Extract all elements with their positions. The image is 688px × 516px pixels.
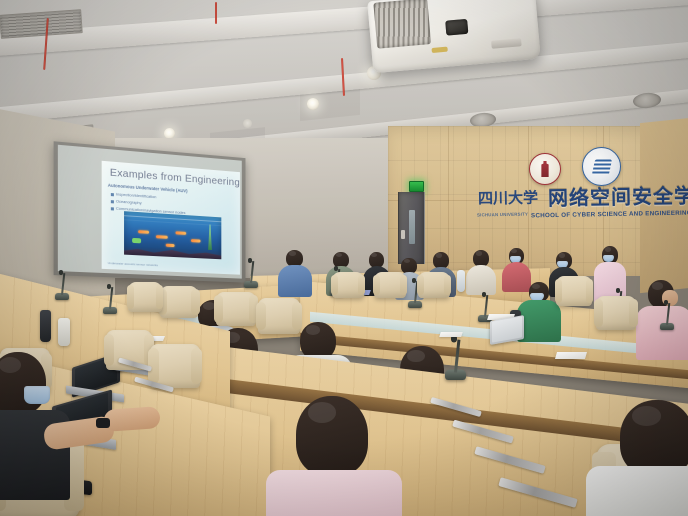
conference-chair[interactable] [418, 272, 450, 298]
typing-hand [103, 406, 160, 432]
projector-label [431, 47, 447, 53]
exit-sign-icon [409, 181, 424, 192]
projector-lens [445, 19, 468, 36]
ceiling-speaker [632, 92, 661, 109]
wrist-watch [96, 418, 110, 428]
sprinkler-pipe [215, 2, 217, 24]
conference-chair[interactable] [150, 344, 200, 388]
ceiling-downlight [307, 98, 319, 110]
cyber-school-emblem-icon [582, 147, 621, 186]
conference-chair[interactable] [556, 276, 592, 306]
conference-chair[interactable] [128, 282, 162, 312]
sign-university-name-cn: 四川大学 [478, 189, 548, 208]
slide-diagram-underwater-network [124, 211, 221, 259]
conference-chair[interactable] [332, 272, 364, 298]
door-handle[interactable] [401, 230, 405, 239]
wood-panel-seam [448, 126, 449, 276]
conference-chair[interactable] [160, 286, 198, 318]
conference-chair[interactable] [258, 298, 300, 334]
screen-surface: Examples from Engineering Autonomous Und… [58, 145, 242, 279]
printed-document [555, 352, 587, 359]
ceiling-downlight [243, 119, 252, 128]
presentation-slide: Examples from Engineering Autonomous Und… [102, 161, 240, 275]
sign-school-name-cn: 网络空间安全学院 [548, 185, 688, 211]
emblem-blue-glyph [591, 160, 611, 175]
conference-chair[interactable] [596, 296, 636, 330]
water-bottle [457, 270, 465, 292]
thermos-flask [40, 310, 51, 342]
projector-mount [491, 38, 522, 49]
conference-chair[interactable] [374, 272, 406, 298]
slide-footer: Underwater acoustic sensor networks [108, 261, 225, 271]
water-bottle [58, 318, 70, 346]
emblem-red-glyph [539, 161, 552, 177]
conference-chair[interactable] [216, 292, 256, 326]
projection-screen: Examples from Engineering Autonomous Und… [54, 141, 246, 282]
ceiling-beam [0, 0, 688, 58]
printed-document [439, 332, 463, 337]
meeting-room-door[interactable] [398, 192, 425, 264]
door-glass-panel [409, 210, 415, 244]
sign-university-name-en: SICHUAN UNIVERSITY [477, 211, 529, 220]
projector-vent-grille [373, 0, 431, 49]
seminar-room-photo: 四川大学 网络空间安全学院 SICHUAN UNIVERSITY SCHOOL … [0, 0, 688, 516]
sichuan-university-emblem-icon [529, 153, 561, 185]
